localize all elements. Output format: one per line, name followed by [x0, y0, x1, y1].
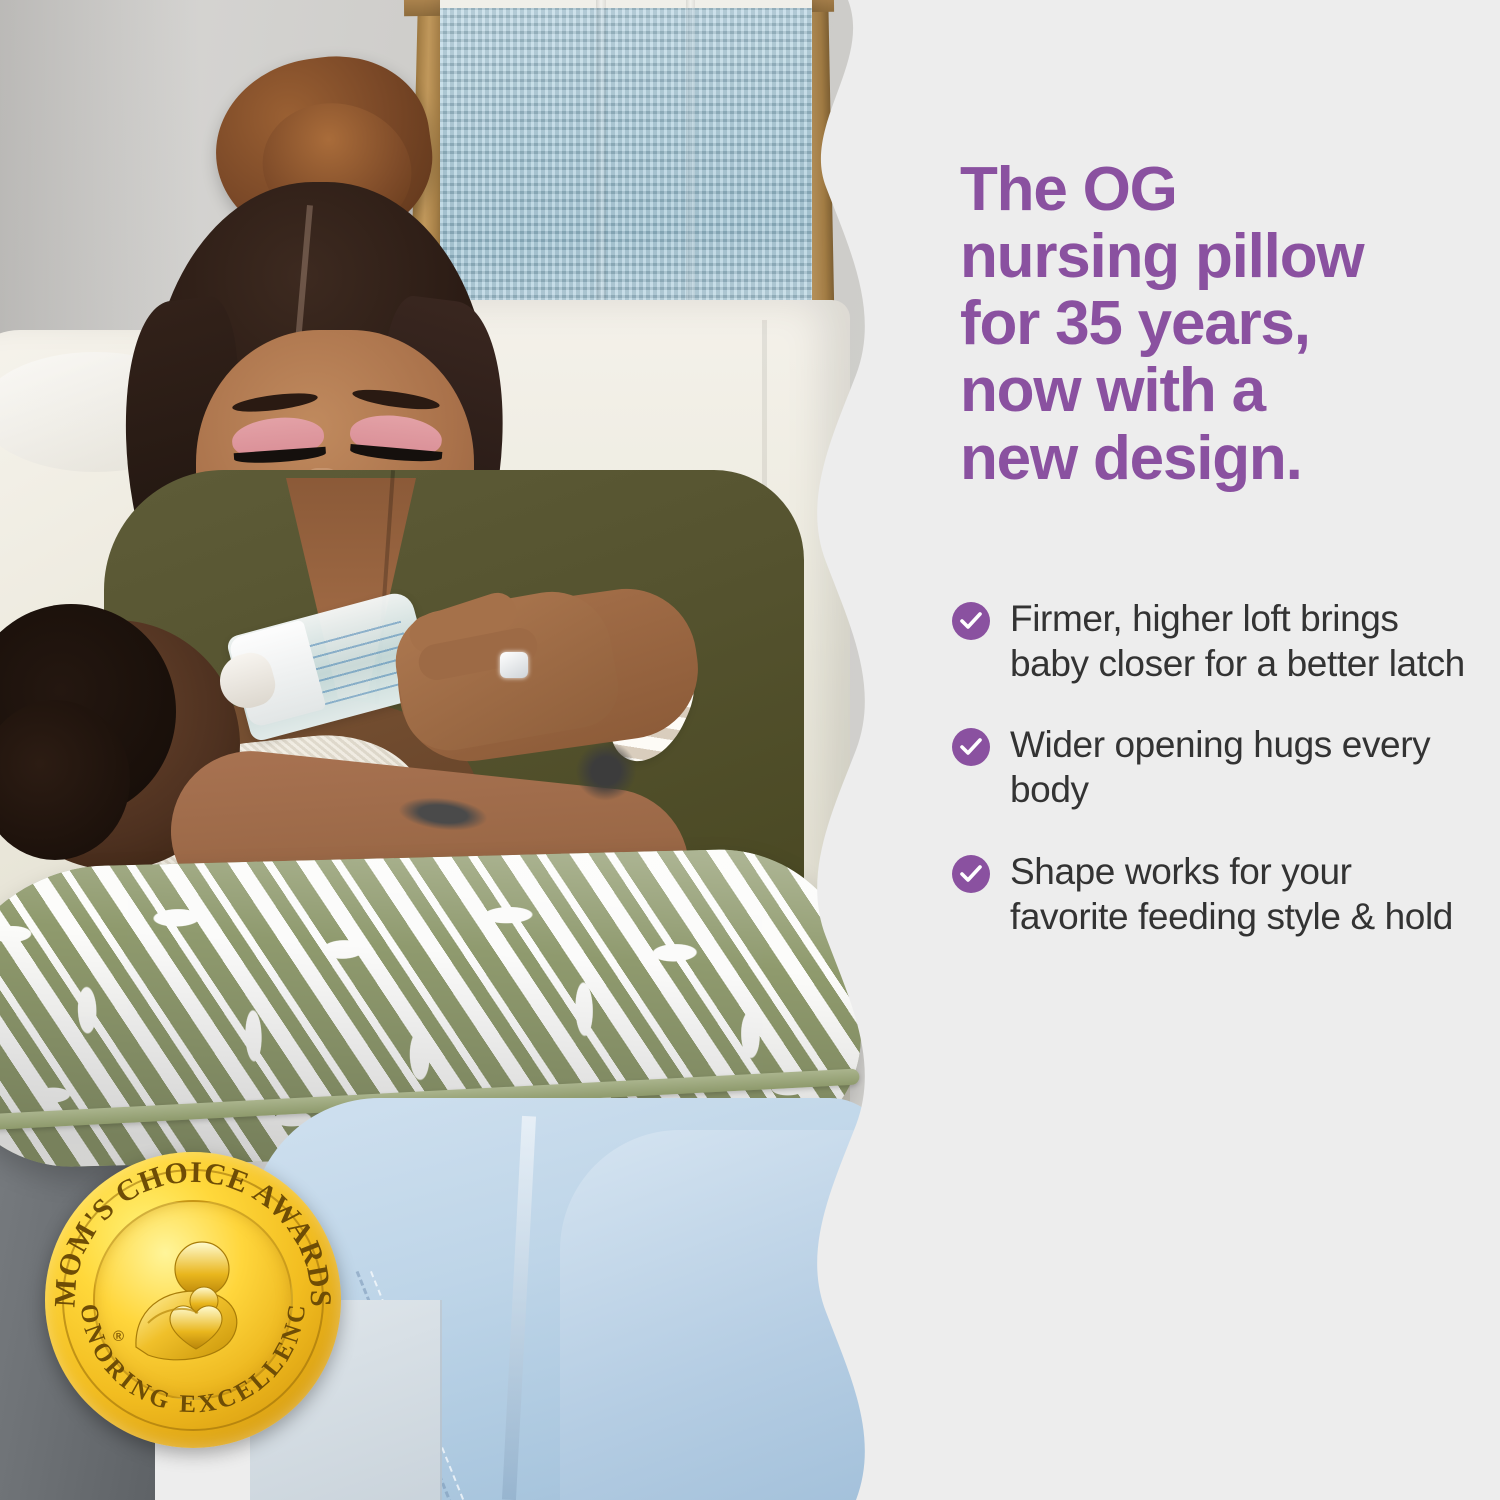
- blanket-fold: [686, 0, 695, 322]
- engagement-ring: [500, 652, 528, 678]
- headline-line: now with a: [960, 357, 1470, 424]
- blanket-top-edge: [440, 0, 812, 8]
- blanket-fold: [596, 0, 606, 322]
- headline-line: new design.: [960, 425, 1470, 492]
- page-title: The OGnursing pillowfor 35 years,now wit…: [960, 156, 1470, 492]
- feature-text: Wider opening hugs every body: [1010, 722, 1468, 812]
- feature-list-item: Firmer, higher loft brings baby closer f…: [952, 596, 1468, 686]
- feature-list-item: Wider opening hugs every body: [952, 722, 1468, 812]
- feature-list: Firmer, higher loft brings baby closer f…: [952, 596, 1468, 975]
- ad-canvas: ® MOM'S CHOICE AWARDS HONORING EXCELLENC…: [0, 0, 1500, 1500]
- headline-line: nursing pillow: [960, 223, 1470, 290]
- moms-choice-award-badge: ® MOM'S CHOICE AWARDS HONORING EXCELLENC…: [45, 1152, 341, 1448]
- check-circle-icon: [952, 855, 990, 893]
- badge-top-label: MOM'S CHOICE AWARDS: [48, 1156, 337, 1308]
- headline-line: for 35 years,: [960, 290, 1470, 357]
- feature-text: Firmer, higher loft brings baby closer f…: [1010, 596, 1468, 686]
- badge-text-ring: MOM'S CHOICE AWARDS HONORING EXCELLENCE: [45, 1152, 341, 1448]
- marketing-copy-panel: The OGnursing pillowfor 35 years,now wit…: [880, 0, 1500, 1500]
- check-circle-icon: [952, 728, 990, 766]
- knit-blanket: [440, 0, 812, 322]
- feature-list-item: Shape works for your favorite feeding st…: [952, 849, 1468, 939]
- headline-line: The OG: [960, 156, 1470, 223]
- check-circle-icon: [952, 602, 990, 640]
- feature-text: Shape works for your favorite feeding st…: [1010, 849, 1468, 939]
